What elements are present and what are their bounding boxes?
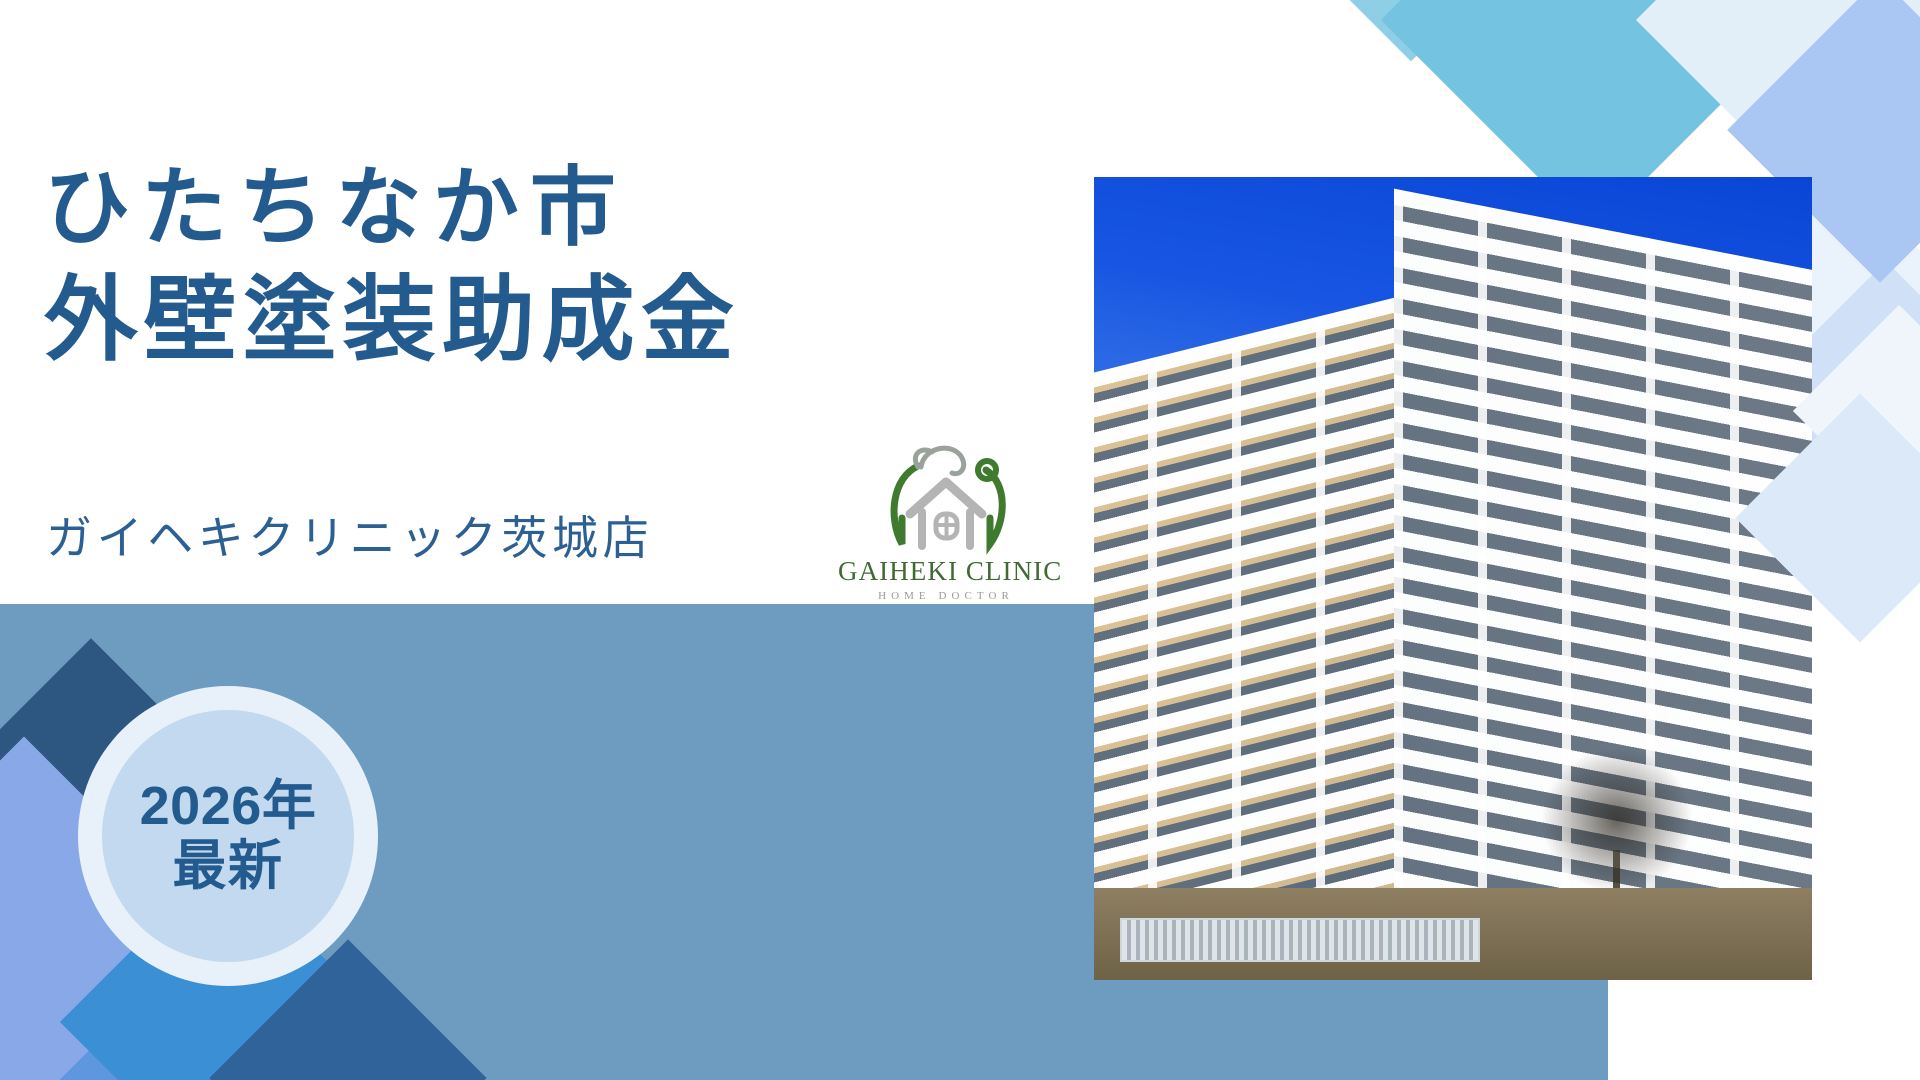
- page-title: ひたちなか市 外壁塗装助成金: [44, 154, 741, 380]
- subtitle: ガイヘキクリニック茨城店: [46, 502, 653, 568]
- stethoscope-house-icon: [866, 440, 1026, 558]
- banner-root: ひたちなか市 外壁塗装助成金 ガイヘキクリニック茨城店 GAIHEKI CLIN…: [0, 0, 1920, 1080]
- brand-logo: GAIHEKI CLINIC HOME DOCTOR: [838, 440, 1054, 615]
- logo-name: GAIHEKI CLINIC: [838, 556, 1054, 587]
- logo-tagline: HOME DOCTOR: [838, 590, 1054, 602]
- badge-inner: 2026年 最新: [102, 710, 354, 962]
- badge-new-label: 最新: [172, 839, 283, 893]
- headline-line-2: 外壁塗装助成金: [44, 262, 741, 379]
- photo-fence: [1120, 918, 1480, 962]
- headline-line-1: ひたちなか市: [44, 160, 627, 256]
- status-badge: 2026年 最新: [78, 686, 378, 986]
- building-photo: [1094, 177, 1812, 980]
- badge-year-label: 2026年: [140, 779, 317, 833]
